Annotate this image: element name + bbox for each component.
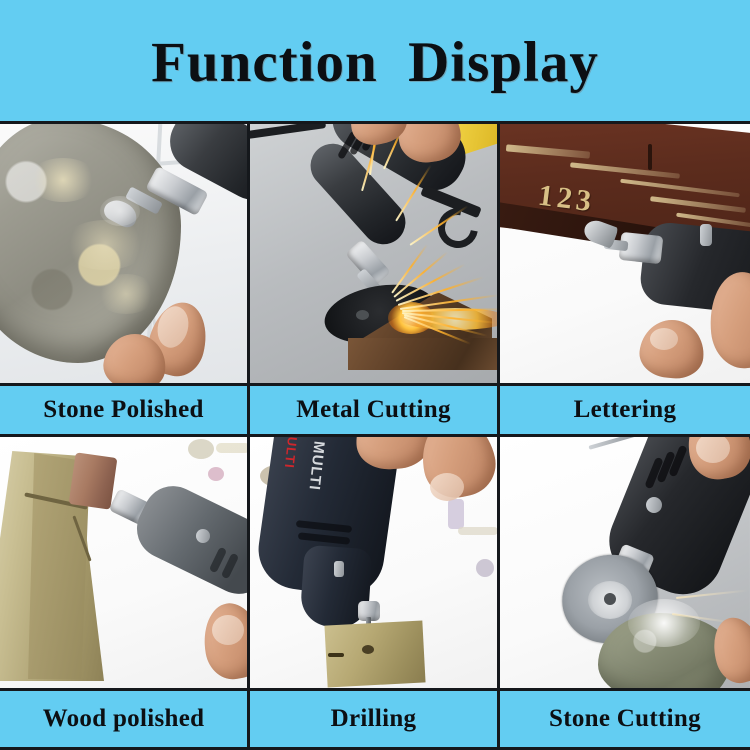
drilled-hole [362,645,374,654]
page-title: Function Display [0,30,750,95]
photo-lettering: 123 [500,124,750,386]
engraved-text: 123 [536,179,597,220]
grid-cell-wood-polished[interactable]: Wood polished [0,437,250,750]
grid-cell-metal-cutting[interactable]: Metal Cutting [250,124,500,437]
product-infographic: Function Display [0,0,750,750]
grid-cell-stone-cutting[interactable]: Stone Cutting [500,437,750,750]
photo-drilling: MULTI MULTI [250,437,497,691]
fingernail [650,328,678,350]
stone-highlight [62,220,148,270]
stone-highlight [96,274,156,314]
scattered-accessory [216,443,247,453]
tool-button [196,529,210,543]
scattered-accessory [448,499,464,529]
caption-drilling: Drilling [250,691,497,750]
cutting-dust [628,599,700,647]
photo-metal-cutting [250,124,497,386]
grid-row: Wood polished MULTI MULTI [0,437,750,750]
caption-stone-cutting: Stone Cutting [500,691,750,750]
tool-button [646,497,662,513]
wood-mark [328,653,344,657]
fingernail [430,473,464,501]
disc-arbor-hole [604,593,616,605]
grinding-dust [100,196,140,226]
photo-wood-polished [0,437,247,691]
sanding-drum [69,452,118,509]
tool-button [700,224,712,246]
workpiece-metal-edge [348,338,497,370]
wood-scratch [648,144,652,170]
tool-button [334,561,344,577]
caption-metal-cutting: Metal Cutting [250,386,497,434]
grid-row: Stone Polished [0,124,750,437]
stone-highlight [28,158,98,202]
scattered-accessory [458,527,497,535]
function-grid: Stone Polished [0,124,750,750]
grid-cell-stone-polished[interactable]: Stone Polished [0,124,250,437]
caption-stone-polished: Stone Polished [0,386,247,434]
caption-wood-polished: Wood polished [0,691,247,750]
scattered-accessory [476,559,494,577]
scattered-accessory [208,467,224,481]
grid-cell-drilling[interactable]: MULTI MULTI Drilling [250,437,500,750]
grid-cell-lettering[interactable]: 123 Lettering [500,124,750,437]
caption-lettering: Lettering [500,386,750,434]
photo-stone-cutting [500,437,750,691]
header-band: Function Display [0,0,750,124]
scattered-accessory [188,439,214,459]
fingernail [212,615,244,645]
photo-stone-polished [0,124,247,386]
disc-arbor-hole [356,310,369,320]
